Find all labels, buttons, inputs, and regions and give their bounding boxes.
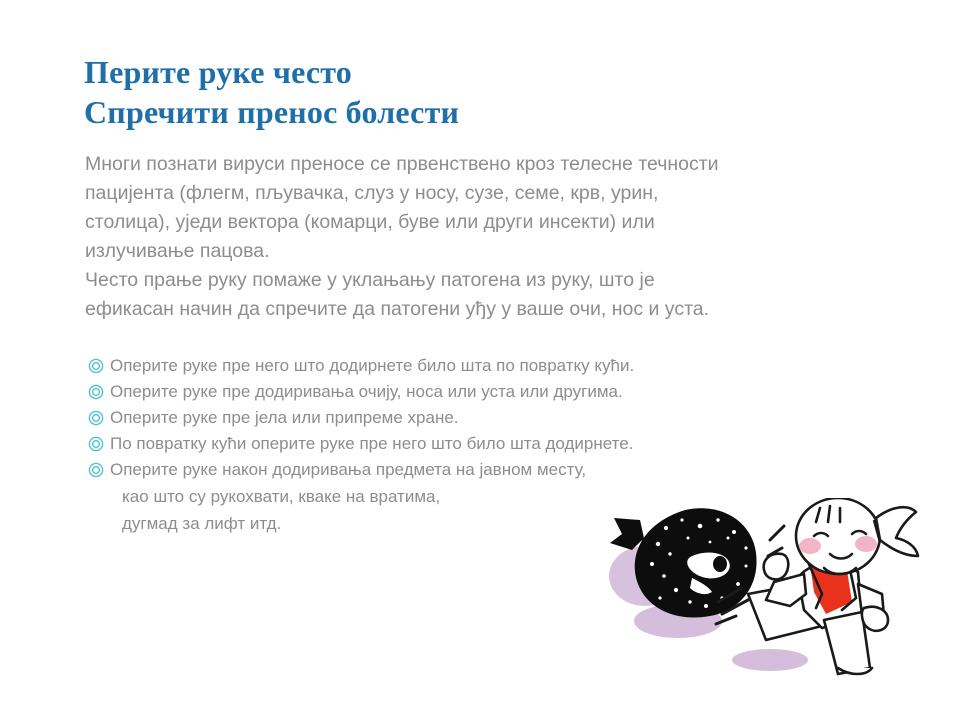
slide-canvas: Перите руке често Спречити пренос болест… — [0, 0, 960, 720]
title-line-1: Перите руке често — [84, 52, 844, 92]
list-item: Оперите руке након додиривања предмета н… — [88, 457, 888, 483]
paragraph2-line1: Често прање руку помаже у уклањању патог… — [85, 266, 915, 295]
list-item: Оперите руке пре него што додирнете било… — [88, 353, 888, 379]
double-circle-bullet-icon — [88, 405, 110, 431]
list-item: По повратку кући оперите руке пре него ш… — [88, 431, 888, 457]
child-kicking-germ-illustration — [570, 498, 960, 688]
list-item-label: Оперите руке након додиривања предмета н… — [110, 457, 586, 483]
double-circle-bullet-icon — [88, 379, 110, 405]
title-line-2: Спречити пренос болести — [84, 92, 844, 132]
list-item: Оперите руке пре јела или припреме хране… — [88, 405, 888, 431]
list-item-label: Оперите руке пре додиривања очију, носа … — [110, 379, 623, 405]
page-title: Перите руке често Спречити пренос болест… — [84, 52, 844, 132]
list-item-label: Оперите руке пре него што додирнете било… — [110, 353, 634, 379]
double-circle-bullet-icon — [88, 457, 110, 483]
list-item-label: По повратку кући оперите руке пре него ш… — [110, 431, 633, 457]
list-item: Оперите руке пре додиривања очију, носа … — [88, 379, 888, 405]
double-circle-bullet-icon — [88, 353, 110, 379]
emotion-lines — [768, 526, 784, 556]
body-text: Многи познати вируси преносе се првенств… — [85, 150, 915, 324]
child-character — [748, 498, 918, 674]
paragraph2-line2: ефикасан начин да спречите да патогени у… — [85, 295, 915, 324]
paragraph1-line3: столица), уједи вектора (комарци, буве и… — [85, 208, 915, 237]
paragraph1-line1: Многи познати вируси преносе се првенств… — [85, 150, 915, 179]
double-circle-bullet-icon — [88, 431, 110, 457]
list-item-label: Оперите руке пре јела или припреме хране… — [110, 405, 459, 431]
paragraph1-line4: излучивање пацова. — [85, 237, 915, 266]
paragraph1-line2: пацијента (флегм, пљувачка, слуз у носу,… — [85, 179, 915, 208]
